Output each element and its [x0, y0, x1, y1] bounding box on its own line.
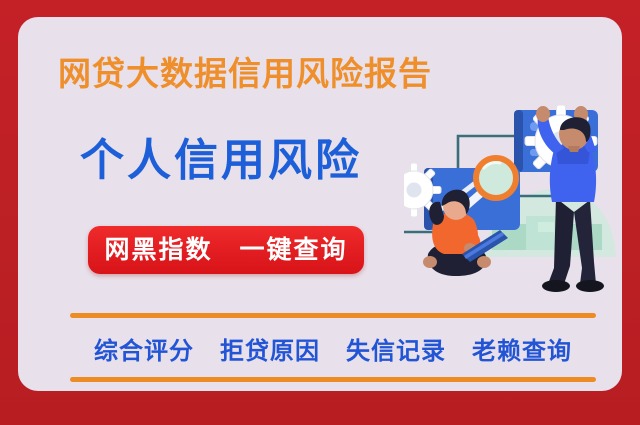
- feature-item-record[interactable]: 失信记录: [346, 331, 446, 366]
- feature-list: 综合评分 拒贷原因 失信记录 老赖查询: [70, 331, 596, 365]
- banner-panel: 网贷大数据信用风险报告 个人信用风险 网黑指数 一键查询 综合评分 拒贷原因 失…: [18, 17, 622, 391]
- feature-item-blacklist[interactable]: 老赖查询: [472, 331, 572, 366]
- promo-banner: 网贷大数据信用风险报告 个人信用风险 网黑指数 一键查询 综合评分 拒贷原因 失…: [0, 0, 640, 425]
- divider-bottom: [70, 377, 596, 382]
- feature-item-score[interactable]: 综合评分: [94, 331, 194, 366]
- feature-item-reason[interactable]: 拒贷原因: [220, 331, 320, 366]
- divider-top: [70, 313, 596, 318]
- banner-subheadline: 个人信用风险: [80, 139, 362, 183]
- query-cta-button[interactable]: 网黑指数 一键查询: [88, 226, 364, 274]
- data-analysis-illustration: [404, 72, 622, 302]
